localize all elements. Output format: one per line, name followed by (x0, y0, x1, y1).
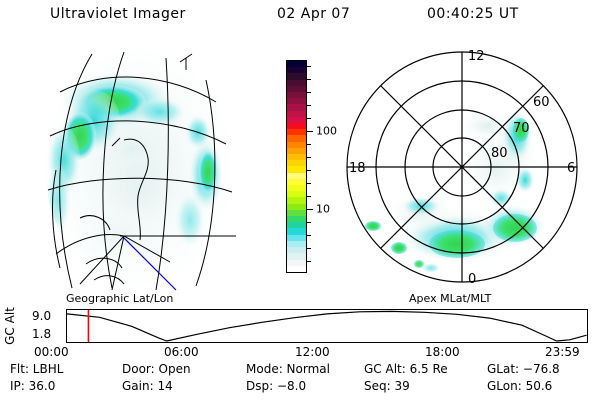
auroral-emission-layer (45, 49, 231, 285)
orbit-xtick-0: 00:00 (34, 345, 69, 359)
polar-svg: 12 6 0 18 60 70 80 (335, 40, 590, 295)
page-title: Ultraviolet Imager (50, 6, 186, 22)
status-glat: GLat: −76.8 (487, 362, 560, 376)
orbit-plot-frame (66, 309, 588, 343)
status-seq: Seq: 39 (364, 379, 410, 393)
orbit-ytick-low: 1.8 (32, 327, 51, 341)
orbit-xtick-3: 18:00 (425, 345, 460, 359)
orbit-ytick-high: 9.0 (32, 309, 51, 323)
status-gc-alt: GC Alt: 6.5 Re (364, 362, 448, 376)
left-map-caption: Geographic Lat/Lon (66, 292, 173, 305)
polar-grid (347, 52, 577, 282)
orbit-altitude-curve (67, 311, 587, 341)
status-ip: IP: 36.0 (10, 379, 55, 393)
orbit-x-axis-ticks: 00:00 06:00 12:00 18:00 23:59 (0, 345, 600, 359)
status-panel: Flt: LBHL Door: Open Mode: Normal GC Alt… (0, 362, 600, 398)
mlat-label-70: 70 (513, 121, 530, 136)
mlt-label-12: 12 (468, 49, 485, 64)
observation-time: 00:40:25 UT (427, 6, 519, 22)
status-filter: Flt: LBHL (10, 362, 63, 376)
globe-svg (20, 40, 270, 295)
mlat-label-80: 80 (491, 146, 508, 161)
apex-polar-plot[interactable]: 12 6 0 18 60 70 80 (335, 40, 590, 295)
status-mode: Mode: Normal (246, 362, 330, 376)
colorbar-ticks: 100 10 (307, 60, 337, 273)
orbit-xtick-2: 12:00 (295, 345, 330, 359)
status-row-2: IP: 36.0 Gain: 14 Dsp: −8.0 Seq: 39 GLon… (0, 379, 600, 396)
mlt-label-0: 0 (468, 272, 476, 287)
colorbar-gradient (286, 60, 307, 273)
status-dsp: Dsp: −8.0 (246, 379, 306, 393)
mlt-label-6: 6 (567, 161, 575, 176)
status-glon: GLon: 50.6 (487, 379, 552, 393)
orbit-curve-svg (67, 310, 587, 342)
mlat-label-60: 60 (533, 95, 550, 110)
colorbar-segment (287, 266, 306, 272)
mlt-label-18: 18 (349, 161, 366, 176)
header-bar: Ultraviolet Imager 02 Apr 07 00:40:25 UT (0, 6, 600, 28)
colorbar-tick-10: 10 (316, 204, 330, 215)
orbit-altitude-plot[interactable]: GC Alt 9.0 1.8 00:00 06:00 12:00 18:00 2… (0, 305, 600, 357)
geographic-globe-image[interactable] (20, 40, 270, 295)
orbit-xtick-1: 06:00 (164, 345, 199, 359)
status-door: Door: Open (122, 362, 191, 376)
status-row-1: Flt: LBHL Door: Open Mode: Normal GC Alt… (0, 362, 600, 379)
status-gain: Gain: 14 (122, 379, 173, 393)
colorbar-tick-100: 100 (316, 126, 337, 137)
observation-date: 02 Apr 07 (277, 6, 350, 22)
right-map-caption: Apex MLat/MLT (409, 292, 491, 305)
orbit-xtick-4: 23:59 (545, 345, 580, 359)
colorbar: photon cm-2s-1 100 10 (272, 60, 334, 295)
